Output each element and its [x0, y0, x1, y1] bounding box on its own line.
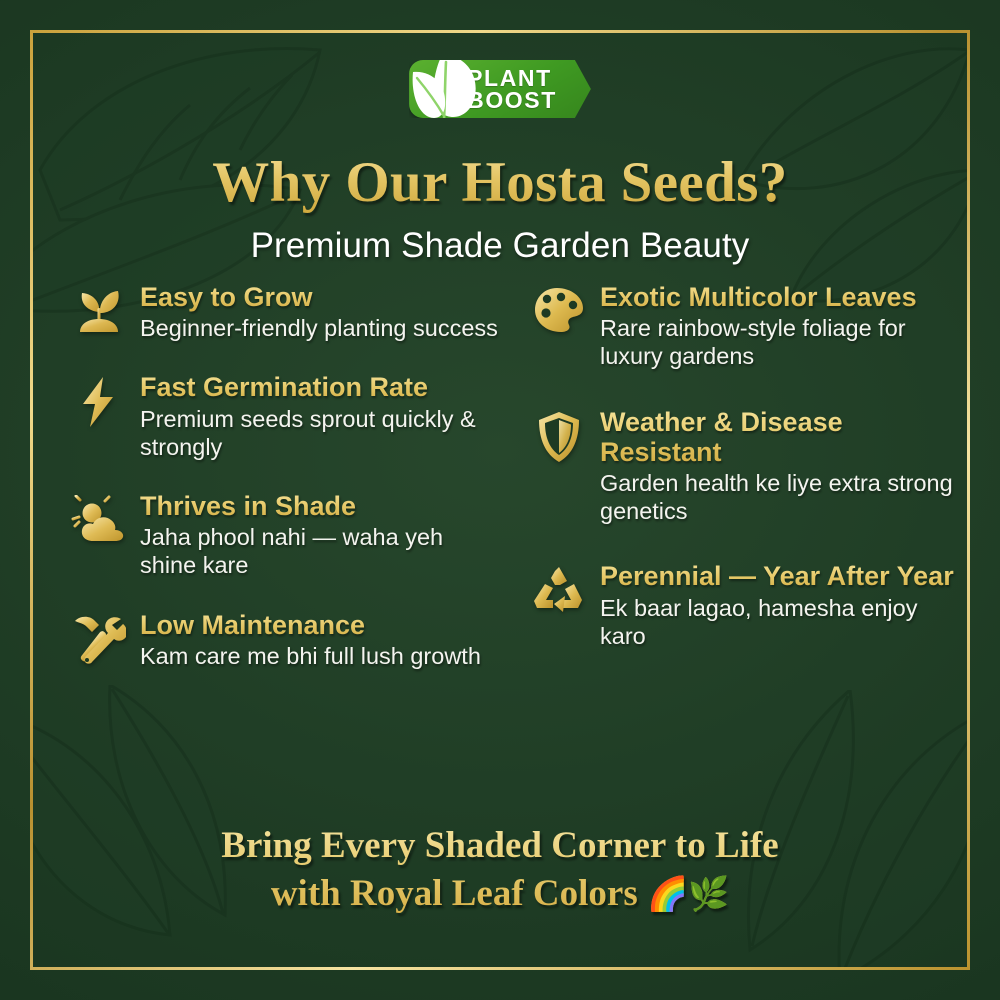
page-title: Why Our Hosta Seeds?: [30, 150, 970, 215]
lightning-bolt-icon: [70, 372, 128, 428]
shield-icon: [530, 407, 588, 463]
promotional-poster: PLANT BOOST Why Our Hosta Seeds? Premium…: [0, 0, 1000, 1000]
feature-title: Easy to Grow: [140, 282, 500, 312]
rainbow-icon: 🌈: [647, 874, 688, 913]
footer-line-1: Bring Every Shaded Corner to Life: [30, 822, 970, 870]
feature-item: Exotic Multicolor Leaves Rare rainbow-st…: [530, 282, 960, 371]
feature-columns: Easy to Grow Beginner-friendly planting …: [30, 282, 970, 692]
page-subtitle: Premium Shade Garden Beauty: [30, 226, 970, 266]
feature-description: Garden health ke liye extra strong genet…: [600, 469, 960, 525]
feature-description: Rare rainbow-style foliage for luxury ga…: [600, 314, 960, 370]
feature-item: Fast Germination Rate Premium seeds spro…: [70, 372, 500, 461]
brand-badge: PLANT BOOST: [409, 60, 591, 118]
feature-description: Jaha phool nahi — waha yeh shine kare: [140, 523, 500, 579]
feature-title: Exotic Multicolor Leaves: [600, 282, 960, 312]
feature-item: Easy to Grow Beginner-friendly planting …: [70, 282, 500, 342]
seedling-icon: [70, 282, 128, 338]
feature-description: Kam care me bhi full lush growth: [140, 642, 500, 670]
footer-line-2-row: with Royal Leaf Colors 🌈🌿: [30, 870, 970, 918]
feature-title: Fast Germination Rate: [140, 372, 500, 402]
feature-column-right: Exotic Multicolor Leaves Rare rainbow-st…: [510, 282, 970, 692]
footer-line-2: with Royal Leaf Colors: [271, 873, 638, 914]
feature-title: Thrives in Shade: [140, 491, 500, 521]
brand-logo: PLANT BOOST: [30, 58, 970, 120]
feature-column-left: Easy to Grow Beginner-friendly planting …: [30, 282, 510, 692]
feature-description: Beginner-friendly planting success: [140, 314, 500, 342]
feature-item: Thrives in Shade Jaha phool nahi — waha …: [70, 491, 500, 580]
hammer-and-wrench-icon: [70, 610, 128, 666]
artist-palette-icon: [530, 282, 588, 338]
sun-behind-cloud-icon: [70, 491, 128, 547]
feature-item: Weather & Disease Resistant Garden healt…: [530, 407, 960, 526]
feature-item: Perennial — Year After Year Ek baar laga…: [530, 561, 960, 650]
feature-title: Low Maintenance: [140, 610, 500, 640]
feature-item: Low Maintenance Kam care me bhi full lus…: [70, 610, 500, 670]
feature-description: Premium seeds sprout quickly & strongly: [140, 405, 500, 461]
feature-title: Perennial — Year After Year: [600, 561, 960, 591]
recycle-icon: [530, 561, 588, 617]
herb-icon: 🌿: [688, 874, 729, 913]
feature-description: Ek baar lagao, hamesha enjoy karo: [600, 594, 960, 650]
footer-tagline: Bring Every Shaded Corner to Life with R…: [30, 822, 970, 918]
feature-title: Weather & Disease Resistant: [600, 407, 960, 467]
two-leaves-icon: [403, 46, 489, 126]
